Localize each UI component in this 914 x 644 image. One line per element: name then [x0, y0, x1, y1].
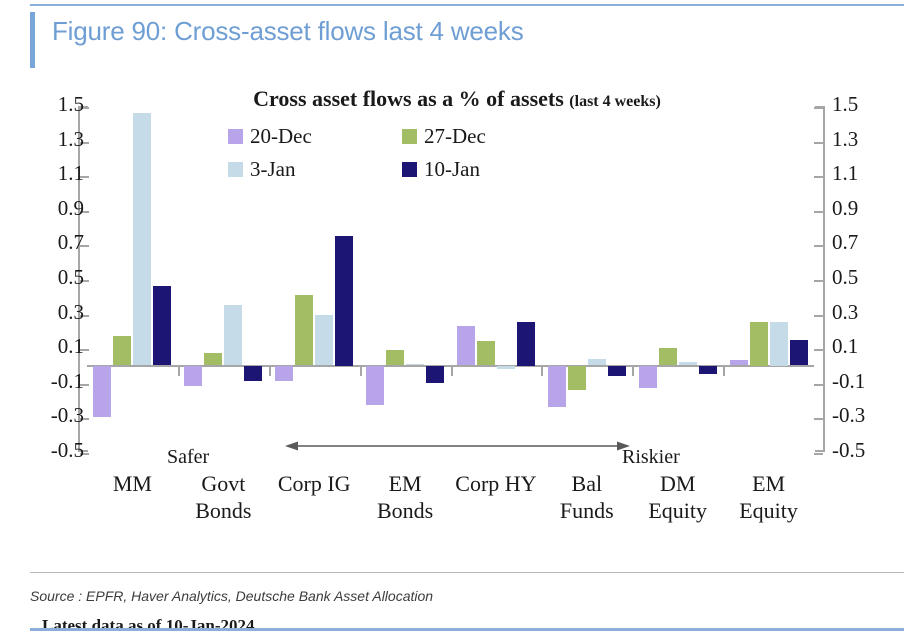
bar[interactable] — [639, 366, 657, 388]
x-axis-category-label: Corp HY — [451, 470, 542, 540]
bar[interactable] — [204, 353, 222, 365]
bar[interactable] — [679, 362, 697, 365]
x-axis-category-line: Bal — [541, 470, 632, 497]
bar[interactable] — [224, 305, 242, 366]
risk-spectrum-arrow-icon — [285, 440, 630, 452]
y-axis-label-left: -0.5 — [51, 438, 84, 463]
figure-header: Figure 90: Cross-asset flows last 4 week… — [30, 10, 904, 72]
y-axis-label-left: 0.9 — [58, 196, 84, 221]
bar[interactable] — [335, 236, 353, 366]
bar[interactable] — [244, 366, 262, 382]
y-axis-label-right: -0.5 — [832, 438, 865, 463]
x-axis-category-label: MM — [87, 470, 178, 540]
y-axis-label-left: -0.3 — [51, 403, 84, 428]
y-tick-right — [814, 418, 823, 420]
figure-accent-bar — [30, 12, 35, 68]
x-axis-category-line: DM — [632, 470, 723, 497]
source-divider — [30, 572, 904, 573]
source-note: Source : EPFR, Haver Analytics, Deutsche… — [30, 588, 433, 604]
y-axis-right — [815, 106, 825, 452]
bar-group — [723, 106, 814, 452]
y-axis-label-right: 0.7 — [832, 230, 858, 255]
y-tick-right — [814, 453, 823, 455]
figure-top-rule — [30, 4, 904, 6]
x-axis-category-label: DMEquity — [632, 470, 723, 540]
bar[interactable] — [477, 341, 495, 365]
annotation-riskier: Riskier — [622, 446, 680, 469]
y-tick-right — [814, 245, 823, 247]
bar[interactable] — [133, 113, 151, 366]
y-axis-label-left: 0.7 — [58, 230, 84, 255]
y-axis-label-left: -0.1 — [51, 369, 84, 394]
bar[interactable] — [366, 366, 384, 406]
bar[interactable] — [497, 366, 515, 369]
bar[interactable] — [699, 366, 717, 375]
x-axis-category-label: Corp IG — [269, 470, 360, 540]
x-axis-category-label: BalFunds — [541, 470, 632, 540]
figure-title: Figure 90: Cross-asset flows last 4 week… — [52, 16, 524, 47]
y-axis-label-right: -0.1 — [832, 369, 865, 394]
x-axis-category-line: EM — [360, 470, 451, 497]
x-axis-category-line: Equity — [632, 497, 723, 524]
y-axis-label-left: 1.5 — [58, 92, 84, 117]
bar[interactable] — [568, 366, 586, 390]
y-axis-label-left: 0.1 — [58, 334, 84, 359]
y-axis-label-right: 0.3 — [832, 300, 858, 325]
bar[interactable] — [517, 322, 535, 365]
latest-data-note: Latest data as of 10-Jan-2024 — [42, 616, 255, 636]
x-axis-category-line: MM — [87, 470, 178, 497]
bar[interactable] — [608, 366, 626, 376]
x-axis-labels: MMGovtBondsCorp IGEMBondsCorp HYBalFunds… — [87, 470, 814, 540]
bar[interactable] — [153, 286, 171, 366]
x-axis-category-line: Corp IG — [269, 470, 360, 497]
y-axis-label-left: 1.1 — [58, 161, 84, 186]
bar[interactable] — [548, 366, 566, 408]
bar[interactable] — [113, 336, 131, 365]
y-tick-right — [814, 280, 823, 282]
plot-area — [87, 106, 814, 452]
y-tick-right — [814, 107, 823, 109]
bar[interactable] — [659, 348, 677, 365]
bar[interactable] — [184, 366, 202, 387]
y-axis-label-right: 1.5 — [832, 92, 858, 117]
bar-group — [632, 106, 723, 452]
bar[interactable] — [750, 322, 768, 365]
y-tick-right — [814, 315, 823, 317]
bar[interactable] — [93, 366, 111, 418]
bar[interactable] — [457, 326, 475, 366]
y-axis-label-right: -0.3 — [832, 403, 865, 428]
y-tick-right — [814, 176, 823, 178]
x-axis-category-line: Bonds — [360, 497, 451, 524]
y-axis-label-left: 0.3 — [58, 300, 84, 325]
x-axis-category-line: Bonds — [178, 497, 269, 524]
bar-group — [360, 106, 451, 452]
bar-group — [541, 106, 632, 452]
bar[interactable] — [588, 359, 606, 366]
y-tick-right — [814, 142, 823, 144]
annotation-safer: Safer — [167, 446, 209, 469]
x-axis-category-line: EM — [723, 470, 814, 497]
y-axis-label-right: 1.1 — [832, 161, 858, 186]
x-axis-category-label: GovtBonds — [178, 470, 269, 540]
x-axis-category-line: Equity — [723, 497, 814, 524]
y-tick-right — [814, 384, 823, 386]
y-axis-label-left: 0.5 — [58, 265, 84, 290]
x-axis-category-line: Funds — [541, 497, 632, 524]
y-tick-right — [814, 211, 823, 213]
bar[interactable] — [770, 322, 788, 365]
bar[interactable] — [315, 315, 333, 365]
bar-group — [178, 106, 269, 452]
x-axis-category-label: EMEquity — [723, 470, 814, 540]
y-tick-right — [814, 349, 823, 351]
bar[interactable] — [295, 295, 313, 366]
bar[interactable] — [426, 366, 444, 383]
bar[interactable] — [730, 360, 748, 365]
y-axis-label-right: 0.1 — [832, 334, 858, 359]
x-axis-category-label: EMBonds — [360, 470, 451, 540]
bar[interactable] — [790, 340, 808, 366]
y-axis-label-right: 0.9 — [832, 196, 858, 221]
figure-bottom-rule — [30, 628, 904, 631]
bar-group — [87, 106, 178, 452]
x-axis-category-line: Corp HY — [451, 470, 542, 497]
y-axis-label-left: 1.3 — [58, 127, 84, 152]
bar-group — [269, 106, 360, 452]
bar[interactable] — [406, 364, 424, 366]
bar[interactable] — [275, 366, 293, 382]
bar[interactable] — [386, 350, 404, 366]
bar-group — [451, 106, 542, 452]
chart-container: Cross asset flows as a % of assets (last… — [0, 78, 914, 530]
y-axis-label-right: 0.5 — [832, 265, 858, 290]
x-axis-category-line: Govt — [178, 470, 269, 497]
y-axis-label-right: 1.3 — [832, 127, 858, 152]
